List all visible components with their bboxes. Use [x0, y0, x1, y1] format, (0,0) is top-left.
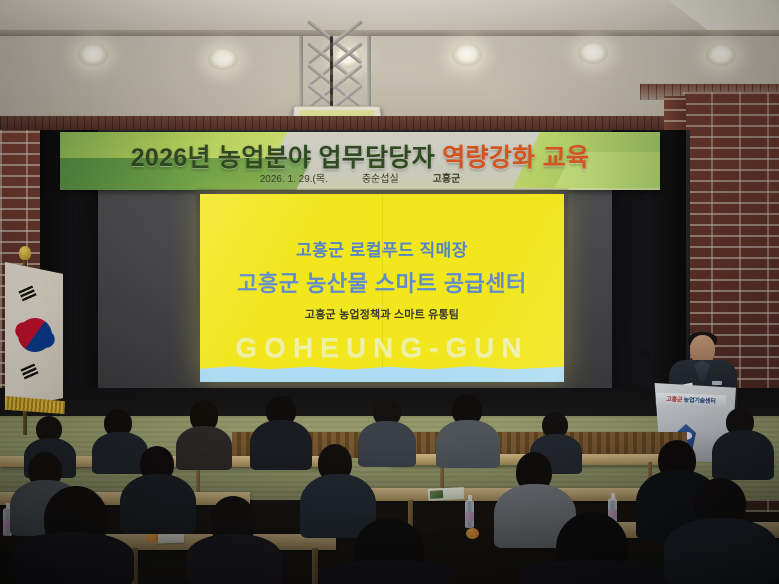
audience-person	[712, 430, 774, 480]
audience-person	[436, 420, 500, 468]
projected-slide: 고흥군 로컬푸드 직매장 고흥군 농산물 스마트 공급센터 고흥군 농업정책과 …	[200, 194, 564, 382]
ceiling-light-icon	[578, 42, 608, 64]
banner-subline: 2026. 1. 29.(목.충순섭실고흥군	[60, 170, 660, 185]
table-leg	[312, 548, 318, 584]
ceiling-light-icon	[452, 44, 482, 66]
banner-date: 2026. 1. 29.(목.	[260, 174, 328, 185]
audience-person-foreground	[664, 518, 779, 584]
audience-person	[120, 474, 196, 534]
banner-title: 2026년 농업분야 업무담당자 역량강화 교육	[60, 138, 660, 174]
microphone-icon	[640, 350, 651, 358]
slide-line-2: 고흥군 농산물 스마트 공급센터	[200, 266, 564, 298]
audience-person-foreground	[322, 560, 454, 584]
handout-paper	[158, 534, 184, 544]
audience-person-foreground	[10, 532, 134, 584]
audience-person-foreground	[186, 534, 282, 584]
banner-venue: 충순섭실	[362, 174, 399, 185]
audience-person	[250, 420, 312, 470]
projector-cable	[330, 36, 333, 114]
ceiling-light-icon	[706, 44, 736, 66]
flag-finial-icon	[19, 246, 31, 260]
projector-scissor-lift	[299, 36, 371, 114]
ceiling-light-icon	[78, 44, 108, 66]
audience-person	[176, 426, 232, 470]
ceiling-light-icon	[208, 48, 238, 70]
banner-title-accent: 역량강화 교육	[442, 144, 589, 172]
orange-fruit	[466, 528, 479, 539]
slide-line-1: 고흥군 로컬푸드 직매장	[200, 236, 564, 261]
auditorium-photo: 2026년 농업분야 업무담당자 역량강화 교육 2026. 1. 29.(목.…	[0, 0, 779, 584]
podium-sign-red: 고흥군	[666, 397, 682, 404]
audience-person-foreground	[520, 560, 660, 584]
upper-wall	[0, 36, 779, 122]
event-banner: 2026년 농업분야 업무담당자 역량강화 교육 2026. 1. 29.(목.…	[60, 132, 660, 190]
banner-title-main: 2026년 농업분야 업무담당자	[131, 144, 443, 172]
water-bottle	[465, 500, 474, 528]
slide-wordmark: GOHEUNG-GUN	[200, 332, 564, 364]
slide-line-3: 고흥군 농업정책과 스마트 유통팀	[200, 306, 564, 322]
goheung-gun-logo: 고흥군	[433, 174, 461, 185]
speaker-name-badge	[712, 381, 722, 385]
ceiling	[0, 0, 779, 34]
audience-person	[358, 421, 416, 467]
booklet	[428, 487, 465, 501]
scissor-arms-icon	[307, 38, 363, 112]
